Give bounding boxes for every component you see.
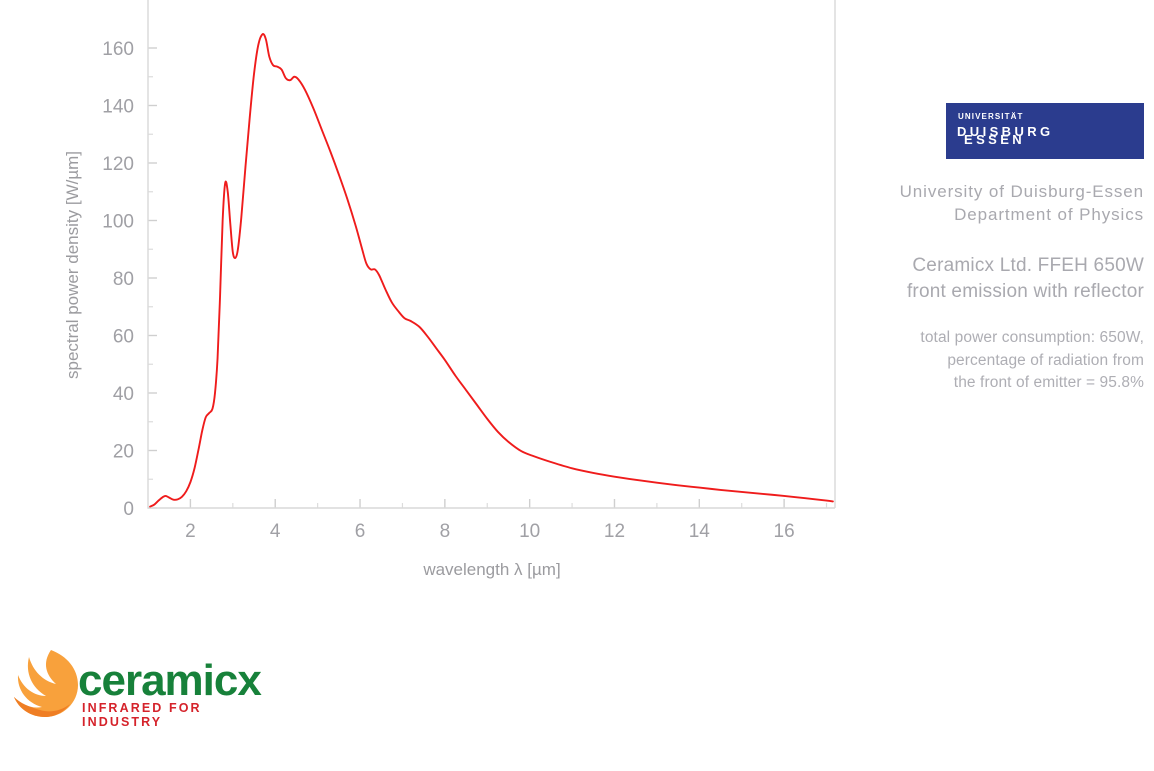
x-tick-labels: 246810121416	[185, 521, 795, 542]
series-line-front-emission	[150, 34, 833, 507]
y-tick-label: 20	[113, 442, 134, 463]
y-tick-label: 0	[123, 499, 134, 520]
detail-line-1: total power consumption: 650W,	[876, 327, 1144, 349]
organisation-line-1: University of Duisburg-Essen	[876, 181, 1144, 204]
y-axis-title: spectral power density [W/µm]	[63, 151, 82, 379]
x-tick-label: 14	[689, 521, 711, 542]
ceramicx-tagline: INFRARED FOR INDUSTRY	[82, 701, 250, 729]
spectral-power-chart: 246810121416 020406080100120140160 wavel…	[0, 0, 860, 600]
y-tick-label: 100	[102, 212, 134, 233]
ceramicx-logo: ceramicx INFRARED FOR INDUSTRY	[10, 645, 250, 725]
logo-universitaet-text: UNIVERSITÄT	[958, 112, 1023, 121]
product-line-1: Ceramicx Ltd. FFEH 650W	[876, 253, 1144, 279]
y-tick-label: 80	[113, 269, 134, 290]
detail-line-3: the front of emitter = 95.8%	[876, 372, 1144, 394]
ceramicx-wordmark: ceramicx	[78, 656, 261, 706]
y-tick-labels: 020406080100120140160	[102, 39, 134, 520]
x-tick-label: 16	[774, 521, 795, 542]
ceramicx-flame-icon	[10, 647, 80, 721]
y-tick-label: 160	[102, 39, 134, 60]
y-tick-label: 120	[102, 154, 134, 175]
x-axis-title: wavelength λ [µm]	[422, 560, 560, 579]
detail-block: total power consumption: 650W, percentag…	[876, 327, 1144, 394]
product-block: Ceramicx Ltd. FFEH 650W front emission w…	[876, 253, 1144, 305]
x-tick-label: 4	[270, 521, 281, 542]
university-duisburg-essen-logo: UNIVERSITÄT DUISBURG ESSEN	[946, 103, 1144, 159]
x-tick-label: 8	[440, 521, 451, 542]
y-tick-label: 40	[113, 384, 134, 405]
organisation-line-2: Department of Physics	[876, 204, 1144, 227]
detail-line-2: percentage of radiation from	[876, 350, 1144, 372]
x-tick-label: 6	[355, 521, 366, 542]
axis-lines	[148, 0, 835, 508]
organisation-block: University of Duisburg-Essen Department …	[876, 181, 1144, 227]
x-tick-label: 2	[185, 521, 196, 542]
logo-essen-text: ESSEN	[964, 132, 1025, 147]
y-tick-label: 140	[102, 97, 134, 118]
chart-svg: 246810121416 020406080100120140160 wavel…	[0, 0, 860, 600]
y-tick-label: 60	[113, 327, 134, 348]
product-line-2: front emission with reflector	[876, 279, 1144, 305]
x-tick-label: 12	[604, 521, 625, 542]
info-panel: UNIVERSITÄT DUISBURG ESSEN University of…	[876, 103, 1144, 395]
x-tick-label: 10	[519, 521, 540, 542]
